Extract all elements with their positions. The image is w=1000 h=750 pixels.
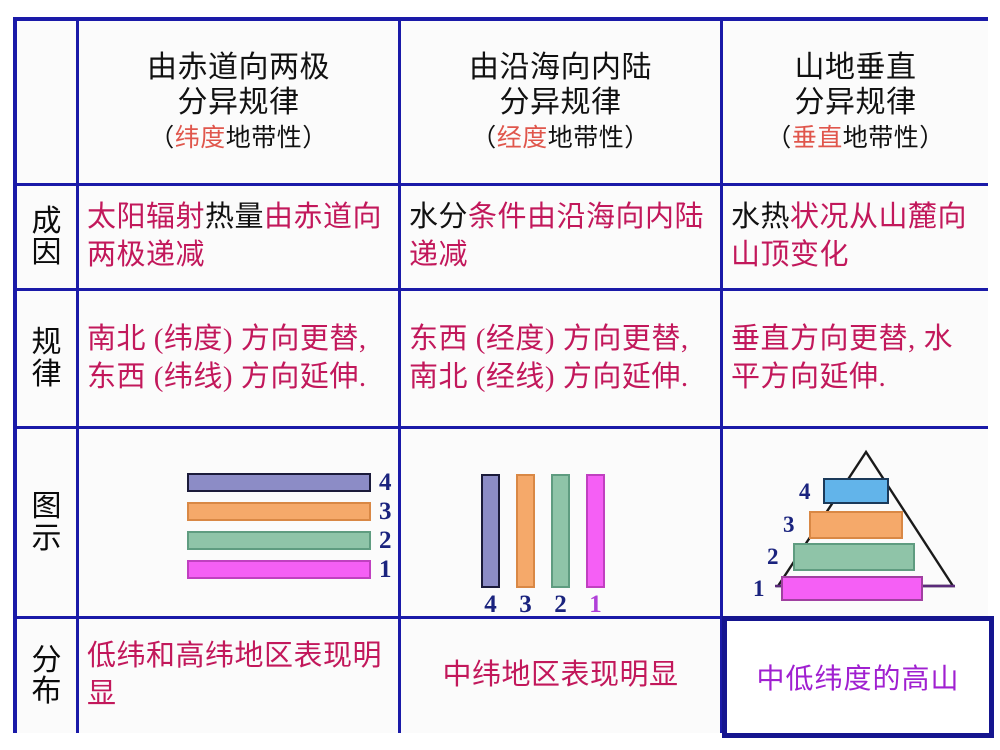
vbar-3 <box>516 474 535 588</box>
hbar-label-1: 1 <box>379 557 392 582</box>
rule-cell-latitudinal: 南北 (纬度) 方向更替, 东西 (纬线) 方向延伸. <box>79 291 401 429</box>
row-label-diagram-char2: 示 <box>32 523 62 555</box>
col3-header-subtitle: （垂直地带性） <box>766 124 945 153</box>
vbar-2 <box>551 474 570 588</box>
row-label-rule-text: 规 律 <box>32 327 62 390</box>
cause-cell-vertical: 水热状况从山麓向山顶变化 <box>723 186 988 291</box>
cause1-part1: 太阳辐射 <box>87 201 205 233</box>
hbar-2 <box>187 531 371 550</box>
rule2-text: 东西 (经度) 方向更替, 南北 (经线) 方向延伸. <box>401 319 720 398</box>
distribution-cell-latitudinal: 低纬和高纬地区表现明显 <box>79 619 401 733</box>
col3-header-line2: 分异规律 <box>795 86 917 119</box>
hbar-4 <box>187 473 371 492</box>
col3-sub-keyword: 垂直 <box>792 125 843 152</box>
row-label-diagram-char1: 图 <box>32 491 62 523</box>
row-label-cause-char2: 因 <box>32 237 62 269</box>
row-label-cause: 成 因 <box>17 186 79 291</box>
col3-sub-rest: 地带性 <box>843 125 920 152</box>
row-label-distribution-text: 分 布 <box>32 645 62 708</box>
cause2-part1: 水分 <box>409 201 468 233</box>
table-corner-cell <box>17 21 79 186</box>
vbar-1 <box>586 474 605 588</box>
highlight-box-vertical-distribution: 中低纬度的高山 <box>722 616 994 738</box>
rule-cell-longitudinal: 东西 (经度) 方向更替, 南北 (经线) 方向延伸. <box>401 291 723 429</box>
col2-header-subtitle: （经度地带性） <box>469 124 652 153</box>
rule3-text: 垂直方向更替, 水平方向延伸. <box>723 319 988 398</box>
col1-sub-keyword: 纬度 <box>175 125 226 152</box>
col1-sub-open: （ <box>149 125 175 152</box>
row-label-cause-text: 成 因 <box>32 206 62 269</box>
column-header-longitudinal: 由沿海向内陆 分异规律 （经度地带性） <box>401 21 723 186</box>
rule1-text: 南北 (纬度) 方向更替, 东西 (纬线) 方向延伸. <box>79 319 398 398</box>
mountain-band-4 <box>823 478 889 504</box>
vbar-label-1: 1 <box>586 592 605 617</box>
hbar-1 <box>187 560 371 579</box>
column-header-latitudinal: 由赤道向两极 分异规律 （纬度地带性） <box>79 21 401 186</box>
vbar-label-4: 4 <box>481 592 500 617</box>
row-label-cause-char1: 成 <box>32 206 62 238</box>
col2-header-line2: 分异规律 <box>500 86 622 119</box>
row-label-distribution-char1: 分 <box>32 645 62 677</box>
cause3-part1: 水热 <box>731 201 790 233</box>
col3-header-line1: 山地垂直 <box>795 51 917 84</box>
mountain-label-2: 2 <box>767 545 779 568</box>
hbar-label-3: 3 <box>379 499 392 524</box>
vertical-bar-chart: 4 3 2 1 <box>401 429 720 616</box>
mountain-label-4: 4 <box>799 480 811 503</box>
col1-sub-rest: 地带性 <box>226 125 303 152</box>
diagram-cell-mountain: 4 3 2 1 <box>723 429 988 619</box>
distribution1-text: 低纬和高纬地区表现明显 <box>79 636 398 715</box>
col3-sub-open: （ <box>766 125 792 152</box>
hbar-label-4: 4 <box>379 470 392 495</box>
row-label-diagram-text: 图 示 <box>32 491 62 554</box>
row-label-rule-char2: 律 <box>32 359 62 391</box>
hbar-3 <box>187 502 371 521</box>
col1-sub-close: ） <box>302 125 328 152</box>
mountain-label-3: 3 <box>783 513 795 536</box>
col2-sub-close: ） <box>624 125 650 152</box>
col3-sub-close: ） <box>919 125 945 152</box>
cause-cell-latitudinal: 太阳辐射热量由赤道向两极递减 <box>79 186 401 291</box>
distribution2-text: 中纬地区表现明显 <box>401 655 720 697</box>
col1-header-subtitle: （纬度地带性） <box>147 124 330 153</box>
cause-cell-longitudinal: 水分条件由沿海向内陆递减 <box>401 186 723 291</box>
row-label-rule: 规 律 <box>17 291 79 429</box>
row-label-distribution: 分 布 <box>17 619 79 733</box>
diagram-cell-vertical-bars: 4 3 2 1 <box>401 429 723 619</box>
rule-cell-vertical: 垂直方向更替, 水平方向延伸. <box>723 291 988 429</box>
distribution-cell-longitudinal: 中纬地区表现明显 <box>401 619 723 733</box>
mountain-band-2 <box>793 543 915 571</box>
col2-sub-rest: 地带性 <box>548 125 625 152</box>
col1-header-line2: 分异规律 <box>178 86 300 119</box>
column-header-vertical: 山地垂直 分异规律 （垂直地带性） <box>723 21 988 186</box>
vbar-4 <box>481 474 500 588</box>
row-label-rule-char1: 规 <box>32 327 62 359</box>
col2-sub-open: （ <box>471 125 497 152</box>
distribution3-text: 中低纬度的高山 <box>756 657 959 697</box>
row-label-distribution-char2: 布 <box>32 676 62 708</box>
horizontal-bar-chart: 4 3 2 1 <box>79 429 398 616</box>
vbar-label-3: 3 <box>516 592 535 617</box>
mountain-band-3 <box>809 511 903 539</box>
slide-canvas: 由赤道向两极 分异规律 （纬度地带性） 由沿海向内陆 分异规律 （经度地带性） … <box>0 0 1000 750</box>
mountain-chart: 4 3 2 1 <box>723 429 988 616</box>
col1-header-line1: 由赤道向两极 <box>147 51 330 84</box>
diagram-cell-horizontal-bars: 4 3 2 1 <box>79 429 401 619</box>
mountain-label-1: 1 <box>753 577 765 600</box>
vbar-label-2: 2 <box>551 592 570 617</box>
cause1-part2: 热量 <box>205 201 264 233</box>
row-label-diagram: 图 示 <box>17 429 79 619</box>
mountain-band-1 <box>781 576 923 601</box>
col2-sub-keyword: 经度 <box>497 125 548 152</box>
hbar-label-2: 2 <box>379 528 392 553</box>
col2-header-line1: 由沿海向内陆 <box>469 51 652 84</box>
